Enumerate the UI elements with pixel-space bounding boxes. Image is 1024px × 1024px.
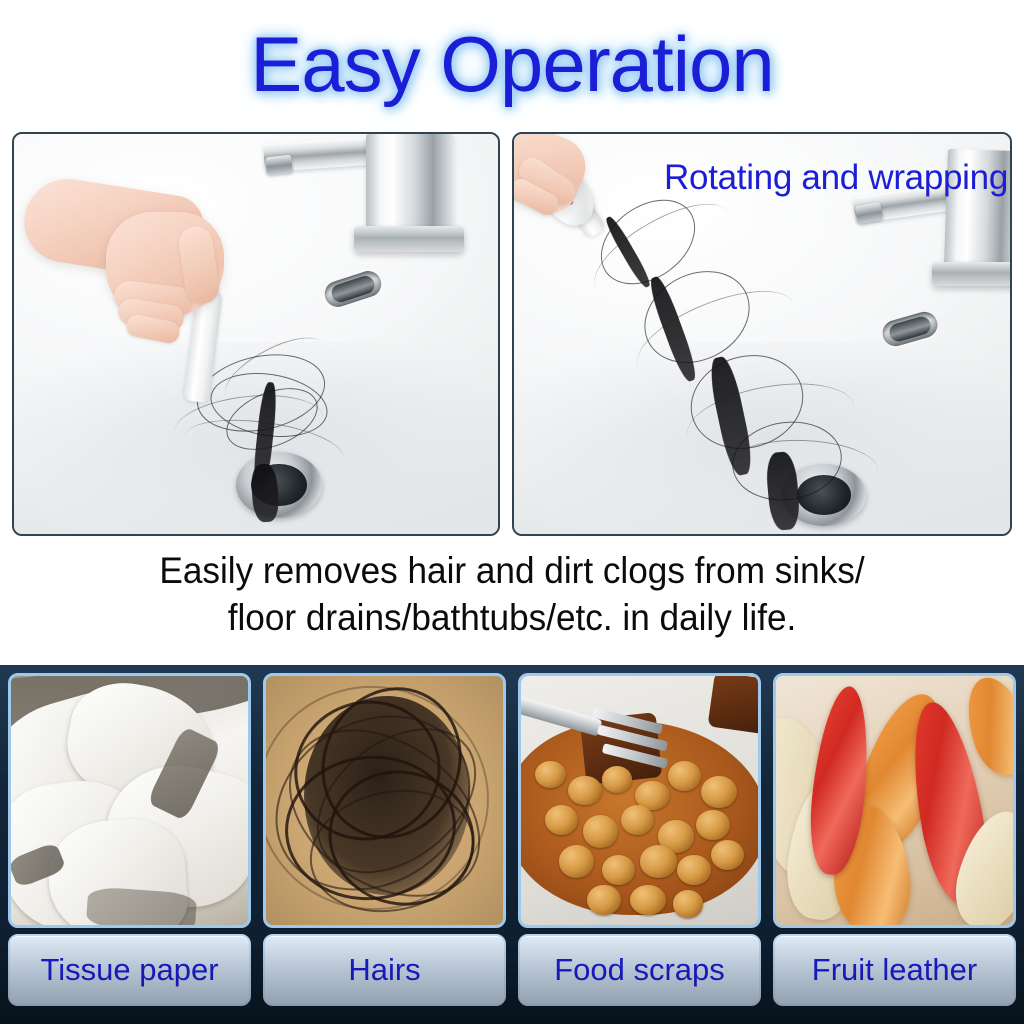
hair-clump-image bbox=[266, 676, 503, 925]
use-case-label-fruit-leather: Fruit leather bbox=[773, 934, 1016, 1006]
use-case-strip: Tissue paper Hairs bbox=[0, 665, 1024, 1024]
use-case-label-food-scraps: Food scraps bbox=[518, 934, 761, 1006]
hero-panel-inserting-tool-into-drain bbox=[12, 132, 500, 536]
description-line-1: Easily removes hair and dirt clogs from … bbox=[26, 548, 999, 595]
header: Easy Operation bbox=[0, 0, 1024, 120]
use-case-label-hairs: Hairs bbox=[263, 934, 506, 1006]
use-case-photo-fruit-leather bbox=[773, 673, 1016, 928]
product-description: Easily removes hair and dirt clogs from … bbox=[26, 548, 999, 641]
hero-panel-pulling-tool-out-of-drain: Rotating and wrapping bbox=[512, 132, 1012, 536]
page-title: Easy Operation bbox=[250, 19, 774, 110]
use-case-card-tissue-paper[interactable]: Tissue paper bbox=[8, 673, 251, 1024]
use-case-photo-tissue-paper bbox=[8, 673, 251, 928]
use-case-card-fruit-leather[interactable]: Fruit leather bbox=[773, 673, 1016, 1024]
description-line-2: floor drains/bathtubs/etc. in daily life… bbox=[26, 595, 999, 642]
hero-caption-rotating-and-wrapping: Rotating and wrapping bbox=[664, 158, 1008, 198]
use-case-card-list: Tissue paper Hairs bbox=[0, 665, 1024, 1024]
tissue-paper-image bbox=[11, 676, 248, 925]
use-case-photo-hairs bbox=[263, 673, 506, 928]
use-case-card-food-scraps[interactable]: Food scraps bbox=[518, 673, 761, 1024]
use-case-label-tissue-paper: Tissue paper bbox=[8, 934, 251, 1006]
use-case-card-hairs[interactable]: Hairs bbox=[263, 673, 506, 1024]
food-scraps-image bbox=[521, 676, 758, 925]
use-case-photo-food-scraps bbox=[518, 673, 761, 928]
hero-photo-row: Rotating and wrapping bbox=[0, 132, 1024, 536]
fruit-peels-image bbox=[776, 676, 1013, 925]
